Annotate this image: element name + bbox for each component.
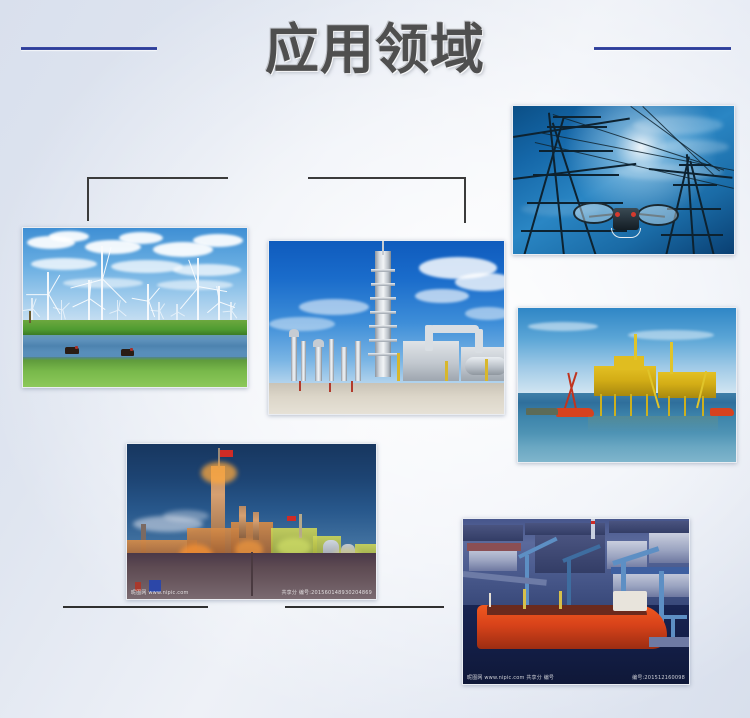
cargo-port-scene: 昵图网 www.nipic.com 共享分 编号 编号:201512160098 <box>463 519 689 684</box>
water-reflection <box>588 416 718 432</box>
cloud <box>111 260 183 273</box>
pipe-bend <box>475 329 483 353</box>
flare-glow <box>201 462 237 484</box>
connector-bracket-right <box>308 177 466 223</box>
wind-farm-scene <box>23 228 247 387</box>
power-transmission-photo[interactable] <box>512 105 735 255</box>
horse <box>121 349 134 356</box>
supply-vessel <box>710 408 734 416</box>
tall-stack <box>299 514 302 538</box>
night-refinery-photo[interactable]: 昵图网 www.nipic.com 共享分 编号:201560148930204… <box>126 443 377 600</box>
cloud <box>49 231 89 242</box>
platform-leg <box>614 394 616 416</box>
title-rule-left <box>21 47 157 50</box>
wind-turbine <box>155 302 163 322</box>
ground-layer <box>269 383 504 414</box>
tower-platform <box>368 353 398 356</box>
wind-turbine <box>79 280 99 322</box>
drone-light <box>615 212 620 217</box>
column <box>355 341 361 381</box>
power-line-scene <box>513 106 734 254</box>
connector-bracket-left <box>87 177 228 221</box>
cloud <box>193 234 243 247</box>
platform-mast <box>670 342 673 374</box>
platform-leg <box>600 394 602 416</box>
barge <box>526 408 558 415</box>
platform-flare-mast <box>634 334 637 360</box>
cloud <box>528 322 598 331</box>
safety-post <box>299 381 301 391</box>
offshore-scene <box>518 308 736 462</box>
column <box>329 339 334 381</box>
page-title: 应用领域 <box>0 18 750 82</box>
industrial-block <box>463 525 523 541</box>
column <box>301 341 306 381</box>
wind-turbine <box>37 272 59 322</box>
wind-farm-photo[interactable] <box>22 227 248 388</box>
inspection-drone <box>573 194 681 242</box>
night-refinery-scene: 昵图网 www.nipic.com 共享分 编号:201560148930204… <box>127 444 376 599</box>
flag <box>219 450 233 457</box>
platform-leg <box>702 396 704 416</box>
cargo-port-photo[interactable]: 昵图网 www.nipic.com 共享分 编号 编号:201512160098 <box>462 518 690 685</box>
tower-platform <box>371 269 395 272</box>
wind-turbine <box>211 286 227 322</box>
tower-platform <box>369 339 397 342</box>
quay-edge <box>649 637 690 647</box>
safety-post <box>329 383 331 392</box>
cloud <box>415 289 469 303</box>
smoke-plume <box>163 510 209 522</box>
chimney-band <box>591 521 595 524</box>
drone-rotor <box>637 204 679 226</box>
ship-superstructure <box>613 591 647 611</box>
warehouse-roof <box>467 543 521 551</box>
offshore-platform-photo[interactable] <box>517 307 737 463</box>
safety-post <box>351 381 353 392</box>
refinery-scene <box>269 241 504 414</box>
tower-platform <box>370 311 396 314</box>
application-fields-banner: 应用领域 <box>0 0 750 718</box>
cloud <box>269 317 335 331</box>
pipe-rack <box>429 325 479 333</box>
column-cap <box>313 339 324 347</box>
column <box>341 347 347 381</box>
column-cap <box>289 329 299 337</box>
photo-watermark-left: 昵图网 www.nipic.com <box>131 590 189 597</box>
connector-underline-right <box>285 606 444 608</box>
title-rule-right <box>594 47 731 50</box>
platform-leg <box>684 396 686 416</box>
wind-turbine <box>227 302 235 322</box>
flag <box>287 516 296 521</box>
platform-leg <box>646 394 648 416</box>
platform-superstructure <box>614 356 644 370</box>
yellow-pipe <box>485 359 488 381</box>
lamp-post <box>251 552 253 596</box>
tower-platform <box>371 283 395 286</box>
pipe-bend <box>425 325 433 351</box>
tower-platform <box>370 297 396 300</box>
yellow-pipe <box>445 361 448 381</box>
photo-watermark-right: 编号:201512160098 <box>632 675 685 682</box>
yellow-pipe <box>397 353 400 381</box>
horse <box>65 347 79 354</box>
refinery-column <box>239 506 246 538</box>
ship-bow-mast <box>489 593 491 607</box>
connector-underline-left <box>63 606 208 608</box>
pond-reflection <box>23 335 247 357</box>
drone-landing-gear <box>611 228 641 238</box>
fence-post <box>29 311 31 323</box>
cloud <box>465 307 505 320</box>
column <box>315 345 322 381</box>
wind-turbine <box>183 258 213 322</box>
industrial-block <box>609 521 690 533</box>
cloud <box>299 299 369 315</box>
wind-turbine <box>57 300 66 322</box>
cloud <box>119 232 163 244</box>
platform-leg <box>630 394 632 416</box>
photo-watermark-right: 共享分 编号:201560148930204869 <box>281 590 372 597</box>
cloud <box>628 330 714 340</box>
tower-top-mast <box>382 241 384 255</box>
refinery-column <box>253 512 259 540</box>
ship-hold-crane <box>523 589 526 609</box>
photo-watermark-left: 昵图网 www.nipic.com 共享分 编号 <box>467 675 554 682</box>
petrochemical-plant-photo[interactable] <box>268 240 505 415</box>
drone-light <box>631 212 636 217</box>
tower-platform <box>369 325 397 328</box>
platform-deck <box>658 372 716 398</box>
column <box>291 335 297 381</box>
ship-hold-crane <box>559 591 562 609</box>
wind-turbine <box>113 300 122 322</box>
drone-rotor <box>573 202 615 224</box>
platform-leg <box>668 396 670 416</box>
